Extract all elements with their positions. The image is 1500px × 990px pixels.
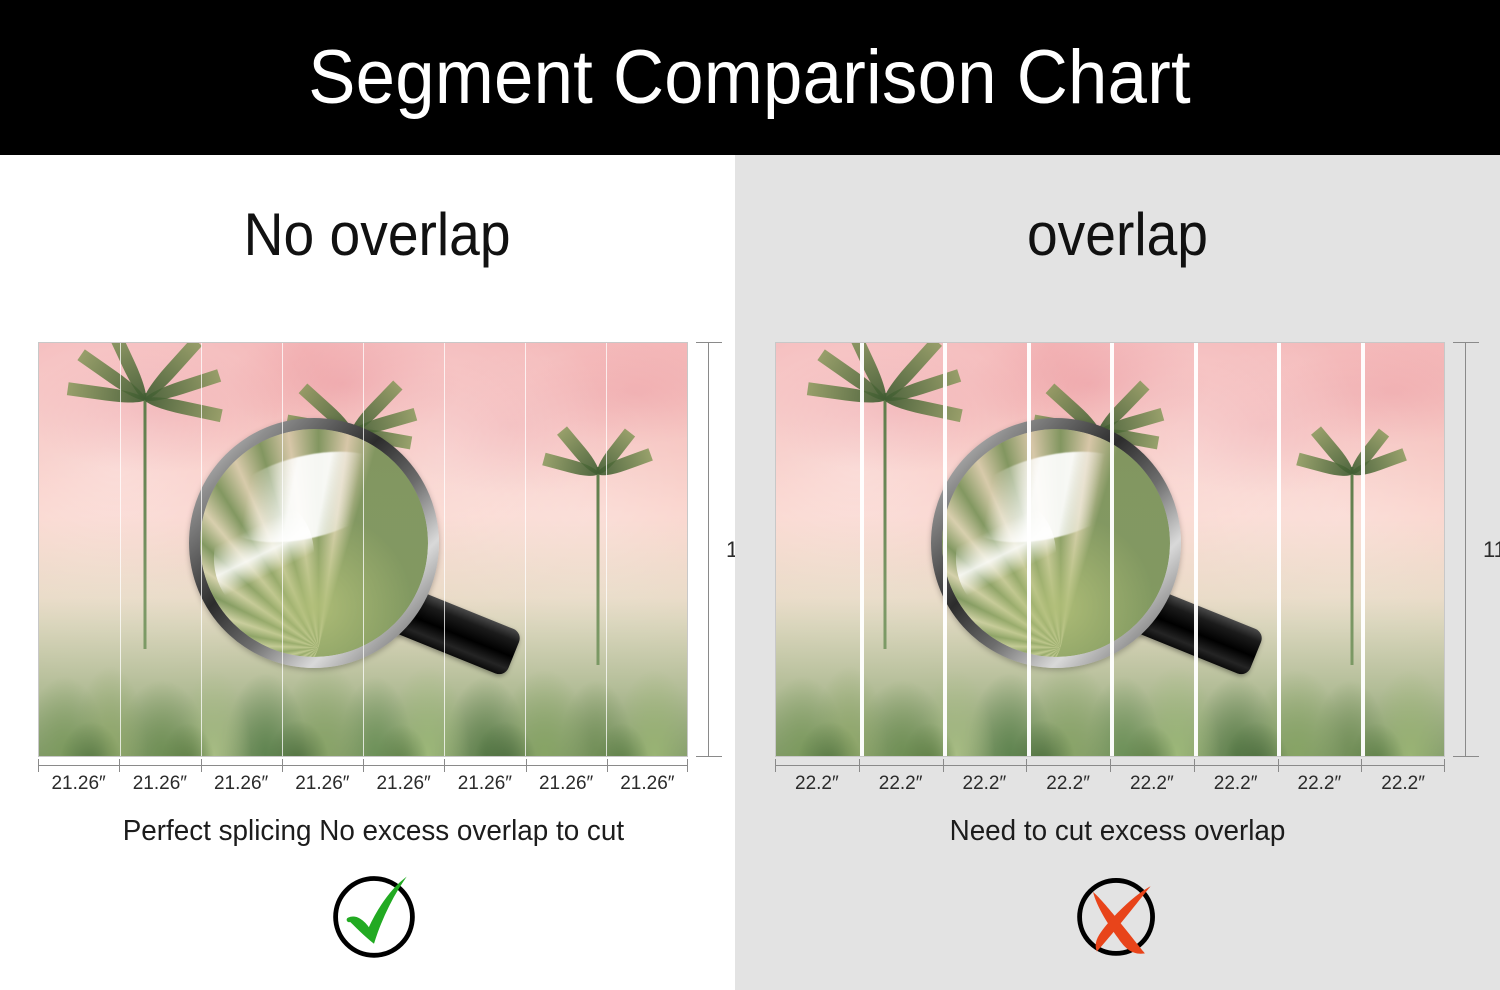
segment-cell: 22.2″	[775, 759, 859, 803]
segment-cell: 22.2″	[1110, 759, 1194, 803]
segment-cell: 22.2″	[943, 759, 1027, 803]
artwork-wrap-overlap	[775, 342, 1445, 757]
segment-cell: 22.2″	[1361, 759, 1445, 803]
magnifier-lens	[189, 418, 439, 668]
caption-overlap: Need to cut excess overlap	[750, 815, 1484, 848]
segment-cell: 22.2″	[859, 759, 943, 803]
segment-cell: 21.26″	[607, 759, 688, 803]
segment-comparison-chart-page: Segment Comparison Chart No overlap	[0, 0, 1500, 990]
magnifying-glass-icon	[931, 418, 1159, 646]
page-title: Segment Comparison Chart	[309, 40, 1192, 116]
check-circle-icon	[326, 867, 422, 963]
segment-cell: 21.26″	[282, 759, 363, 803]
tropical-foliage-shadow	[776, 649, 1444, 756]
panel-overlap: overlap	[735, 155, 1500, 990]
segment-cell: 21.26″	[201, 759, 282, 803]
height-label-overlap: 110″	[1483, 537, 1500, 563]
verdict-no-overlap	[0, 867, 741, 963]
segment-cell: 21.26″	[119, 759, 200, 803]
segment-cell: 21.26″	[363, 759, 444, 803]
segment-cell: 22.2″	[1026, 759, 1110, 803]
tropical-foliage-shadow	[39, 649, 687, 756]
cross-circle-icon	[1070, 867, 1166, 963]
segment-dimensions-overlap: 22.2″ 22.2″ 22.2″ 22.2″ 22.2″ 22.2″ 22.2…	[775, 759, 1445, 803]
verdict-overlap	[735, 867, 1500, 963]
magnifier-lens	[931, 418, 1181, 668]
artwork-wrap-no-overlap	[38, 342, 688, 757]
segment-cell: 21.26″	[526, 759, 607, 803]
comparison-panels: No overlap	[0, 155, 1500, 990]
title-banner: Segment Comparison Chart	[0, 0, 1500, 155]
mural-artwork-overlap	[775, 342, 1445, 757]
magnifying-glass-icon	[189, 418, 417, 646]
segment-cell: 22.2″	[1278, 759, 1362, 803]
caption-no-overlap: Perfect splicing No excess overlap to cu…	[15, 815, 726, 848]
segment-cell: 21.26″	[444, 759, 525, 803]
mural-artwork-no-overlap	[38, 342, 688, 757]
panel-heading-no-overlap: No overlap	[30, 200, 715, 269]
segment-cell: 21.26″	[38, 759, 119, 803]
panel-no-overlap: No overlap	[0, 155, 735, 990]
panel-heading-overlap: overlap	[766, 200, 1470, 269]
segment-cell: 22.2″	[1194, 759, 1278, 803]
segment-dimensions-no-overlap: 21.26″ 21.26″ 21.26″ 21.26″ 21.26″ 21.26…	[38, 759, 688, 803]
